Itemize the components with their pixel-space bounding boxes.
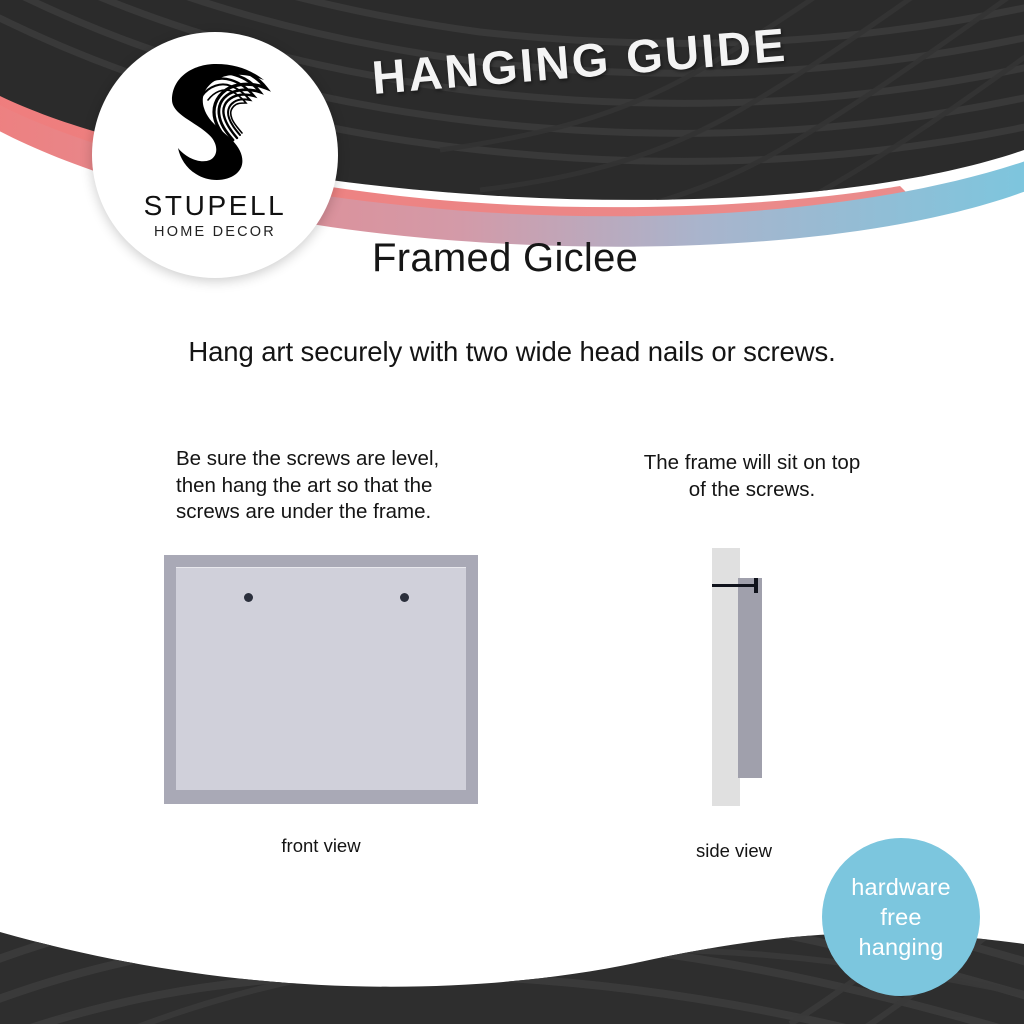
front-view-caption-line-3: screws are under the frame. bbox=[176, 499, 476, 526]
lead-instruction-text: Hang art securely with two wide head nai… bbox=[0, 336, 1024, 368]
nail-shaft-icon bbox=[712, 584, 756, 587]
nail-head-icon bbox=[754, 578, 758, 593]
side-view-caption-line-2: of the screws. bbox=[606, 477, 898, 504]
front-view-diagram bbox=[164, 555, 478, 804]
badge-line-1: hardware bbox=[851, 872, 951, 902]
frame-mat bbox=[176, 567, 466, 790]
front-view-label: front view bbox=[164, 835, 478, 857]
brand-logo-badge: STUPELL HOME DECOR bbox=[92, 32, 338, 278]
badge-line-2: free bbox=[880, 902, 921, 932]
side-view-diagram bbox=[700, 548, 810, 806]
side-view-label: side view bbox=[678, 840, 790, 862]
front-view-caption-line-1: Be sure the screws are level, bbox=[176, 446, 476, 473]
page-title: HANGING GUIDE bbox=[370, 17, 789, 105]
side-view-caption: The frame will sit on top of the screws. bbox=[606, 450, 898, 503]
hanging-guide-page: HANGING GUIDE STUPELL HOME DECOR Framed … bbox=[0, 0, 1024, 1024]
stupell-swoosh-icon bbox=[156, 54, 274, 182]
badge-line-3: hanging bbox=[858, 932, 943, 962]
brand-tagline: HOME DECOR bbox=[92, 224, 338, 240]
hardware-free-hanging-badge: hardware free hanging bbox=[822, 838, 980, 996]
screw-dot-left-icon bbox=[244, 593, 253, 602]
front-view-caption: Be sure the screws are level, then hang … bbox=[176, 446, 476, 526]
screw-dot-right-icon bbox=[400, 593, 409, 602]
front-view-caption-line-2: then hang the art so that the bbox=[176, 473, 476, 500]
product-type-title: Framed Giclee bbox=[372, 236, 638, 281]
brand-name: STUPELL bbox=[92, 190, 338, 222]
side-view-caption-line-1: The frame will sit on top bbox=[606, 450, 898, 477]
frame-strip bbox=[738, 578, 762, 778]
